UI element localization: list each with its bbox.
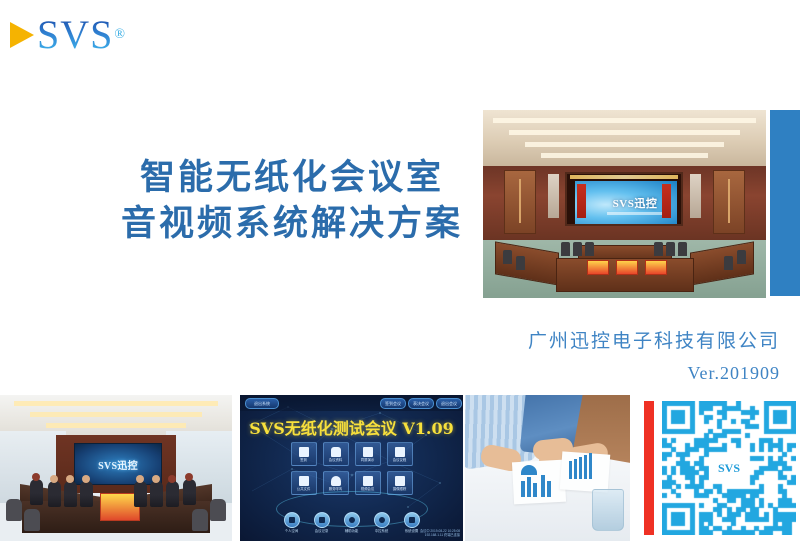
clipboard-icon	[299, 447, 309, 457]
attendee	[183, 479, 196, 505]
folder-icon	[299, 476, 309, 486]
attendee-head	[185, 473, 193, 481]
ceiling-beam	[493, 118, 756, 123]
door-left	[504, 170, 536, 234]
chair	[666, 242, 675, 256]
presentation-cover-slide: SVS ® 智能无纸化会议室 音视频系统解决方案 SVS迅控	[0, 0, 800, 541]
chart-bar	[589, 453, 592, 479]
chart-bar	[527, 477, 531, 497]
dock-label: 辅助功能	[345, 529, 359, 533]
side-banner-right	[662, 184, 671, 218]
chart-bar	[521, 481, 525, 497]
screen-logo-text: SVS迅控	[613, 195, 658, 211]
ceiling-beam	[509, 130, 740, 135]
chart-bar	[584, 455, 587, 479]
paperless-software-ui[interactable]: 退出系统 签到会议 表决会议 退出会议 SVS无纸化测试会议 V1.09 签到 …	[240, 395, 463, 541]
tile-public-files[interactable]: 公共文件	[291, 471, 317, 495]
video-icon	[395, 476, 405, 486]
screen-logo-text: SVS迅控	[98, 457, 138, 472]
chair	[654, 242, 663, 256]
door-right	[713, 170, 745, 234]
screen-subtitle-bar	[607, 212, 663, 215]
user-space-icon	[284, 512, 300, 528]
chart-bar	[569, 461, 572, 479]
bell-icon	[331, 476, 341, 486]
chair	[516, 256, 525, 270]
tile-agenda[interactable]: 会议议程	[387, 442, 413, 466]
chart-bar	[574, 459, 577, 479]
qr-code[interactable]: SVS	[662, 401, 796, 535]
chart-bar	[579, 457, 582, 479]
red-accent-bar	[644, 401, 654, 535]
triangle-play-mark-icon	[10, 22, 34, 48]
title-line-2: 音视频系统解决方案	[92, 201, 492, 247]
chair	[24, 509, 40, 531]
accent-bar	[770, 110, 800, 296]
ceiling-light	[14, 401, 218, 406]
tile-label: 服务呼叫	[329, 487, 343, 491]
attendee	[134, 481, 147, 507]
monitor-icon	[363, 447, 373, 457]
company-name: 广州迅控电子科技有限公司	[528, 328, 780, 354]
company-block: 广州迅控电子科技有限公司 Ver.201909	[528, 328, 780, 386]
dock-label: 系统设置	[405, 529, 419, 533]
exit-meeting-button[interactable]: 退出会议	[436, 398, 462, 409]
chart-bar	[533, 483, 537, 497]
led-screen-frame: SVS迅控	[565, 172, 683, 226]
tile-meeting-docs[interactable]: 会议资料	[323, 442, 349, 466]
chair	[6, 499, 22, 521]
team-discussion-photo	[465, 395, 630, 541]
conference-room-render: SVS迅控	[483, 110, 766, 298]
tile-label: 会议议程	[393, 458, 407, 462]
chair	[210, 499, 226, 521]
tools-icon	[344, 512, 360, 528]
chair	[573, 242, 582, 256]
screen-header-banner	[570, 175, 678, 179]
water-glass	[592, 489, 624, 531]
chair	[678, 242, 687, 256]
ceiling-light	[30, 412, 202, 417]
tile-label: 视频会议	[361, 487, 375, 491]
registered-trademark-icon: ®	[114, 27, 125, 43]
wall-pillar-left	[548, 174, 559, 218]
attendee-head	[66, 475, 74, 483]
qr-center-logo: SVS	[709, 454, 749, 482]
tile-label: 签到	[300, 458, 307, 462]
ceiling-beam	[525, 142, 724, 147]
dock-aux-functions[interactable]: 辅助功能	[344, 512, 360, 533]
chair	[192, 509, 208, 531]
chair	[503, 250, 512, 264]
attendee	[64, 481, 77, 507]
meeting-room-photo: SVS迅控	[0, 395, 232, 541]
dock-label: 会议记录	[315, 529, 329, 533]
status-line-2: 192.168.1.11 终端已连接	[420, 533, 460, 537]
tile-camera-tracking[interactable]: 摄像跟踪	[387, 471, 413, 495]
ceiling-beam	[541, 153, 708, 158]
title-line-1: 智能无纸化会议室	[92, 155, 492, 201]
bottom-dock: 个人空间 会议记录 辅助功能 中控系统 系统设置	[284, 512, 420, 533]
control-icon	[374, 512, 390, 528]
agenda-icon	[395, 447, 405, 457]
settings-icon	[404, 512, 420, 528]
vote-meeting-button[interactable]: 表决会议	[408, 398, 434, 409]
dock-personal-space[interactable]: 个人空间	[284, 512, 300, 533]
desk-document-2	[616, 260, 638, 275]
chair	[737, 250, 746, 264]
attendee-head	[168, 475, 176, 483]
attendee-head	[32, 473, 40, 481]
chair	[561, 242, 570, 256]
tile-screen-share[interactable]: 同屏演示	[355, 442, 381, 466]
bottom-image-strip: SVS迅控	[0, 395, 800, 541]
chart-dome	[521, 465, 537, 475]
tile-signin[interactable]: 签到	[291, 442, 317, 466]
qr-center-text: SVS	[718, 461, 740, 476]
tile-label: 同屏演示	[361, 458, 375, 462]
chart-bar	[541, 475, 545, 497]
attendee-head	[82, 475, 90, 483]
dock-system-settings[interactable]: 系统设置	[404, 512, 420, 533]
chair	[585, 242, 594, 256]
attendee	[166, 481, 179, 507]
attendee	[30, 479, 43, 505]
attendee	[48, 481, 61, 507]
exit-system-button[interactable]: 退出系统	[245, 398, 279, 409]
camera-icon	[363, 476, 373, 486]
attendee-head	[50, 475, 58, 483]
ceiling-light	[46, 423, 186, 428]
attendee	[150, 481, 163, 507]
record-icon	[314, 512, 330, 528]
signin-meeting-button[interactable]: 签到会议	[380, 398, 406, 409]
desk-document-3	[645, 260, 667, 275]
logo-wordmark: SVS	[37, 15, 113, 55]
function-tile-grid: 签到 会议资料 同屏演示 会议议程 公共文件	[291, 442, 413, 495]
chair	[724, 256, 733, 270]
dock-label: 中控系统	[375, 529, 389, 533]
tile-label: 会议资料	[329, 458, 343, 462]
attendee	[80, 481, 93, 507]
side-banner-left	[577, 184, 586, 218]
tile-label: 公共文件	[297, 487, 311, 491]
status-stamp: 会议中 2019-08-22 10:25:08 192.168.1.11 终端已…	[420, 529, 460, 537]
version-label: Ver.201909	[528, 360, 780, 386]
dock-label: 个人空间	[285, 529, 299, 533]
wall-pillar-right	[690, 174, 701, 218]
chart-bar	[547, 481, 551, 497]
dock-meeting-record[interactable]: 会议记录	[314, 512, 330, 533]
page-title: 智能无纸化会议室 音视频系统解决方案	[92, 155, 492, 247]
dock-control-system[interactable]: 中控系统	[374, 512, 390, 533]
desk-document-1	[587, 260, 609, 275]
file-icon	[331, 447, 341, 457]
tile-label: 摄像跟踪	[393, 487, 407, 491]
app-title: SVS无纸化测试会议 V1.09	[240, 415, 463, 439]
svs-logo: SVS ®	[10, 14, 125, 56]
qr-code-block: SVS	[630, 395, 800, 541]
attendee-head	[152, 475, 160, 483]
attendee-head	[136, 475, 144, 483]
